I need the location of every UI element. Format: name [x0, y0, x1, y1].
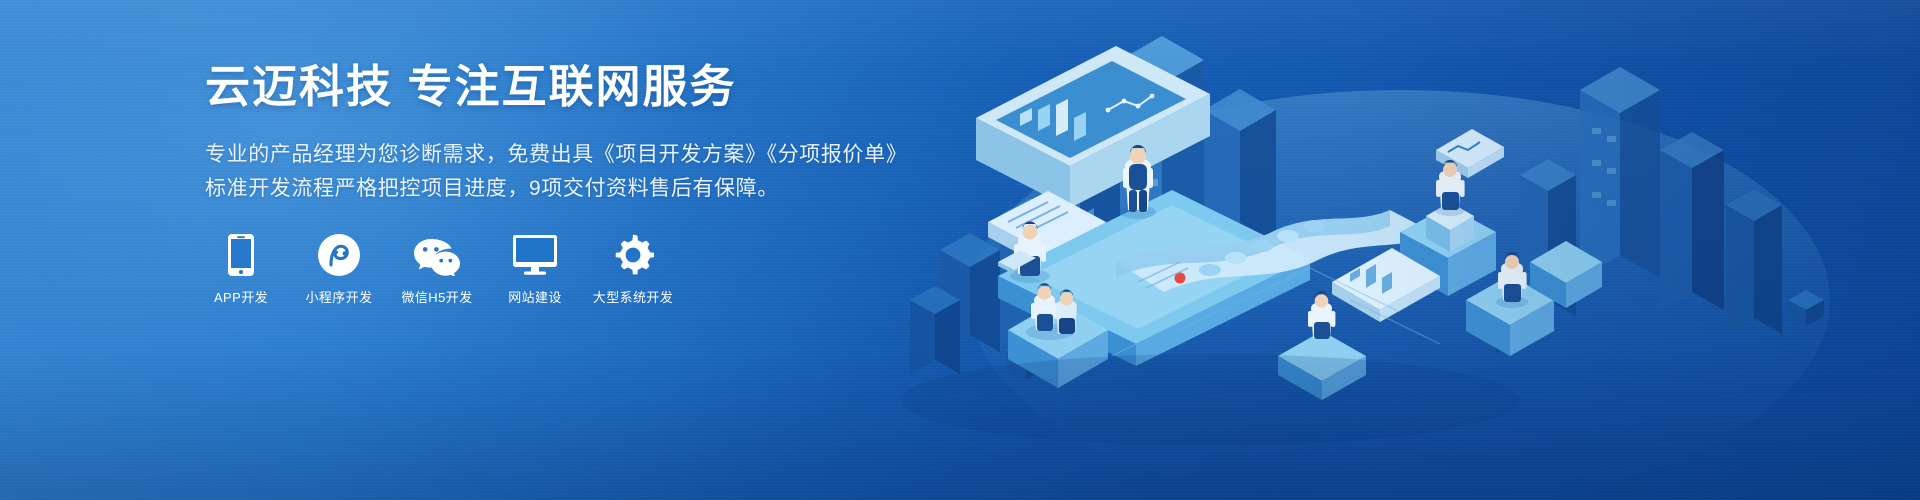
- service-label: 小程序开发: [305, 291, 372, 304]
- service-label: APP开发: [214, 291, 268, 304]
- banner-subtitle-line-2: 标准开发流程严格把控项目进度，9项交付资料售后有保障。: [205, 172, 905, 206]
- banner-copy: 云迈科技 专注互联网服务 专业的产品经理为您诊断需求，免费出具《项目开发方案》《…: [205, 62, 905, 206]
- service-label: 大型系统开发: [593, 291, 673, 304]
- mini-program-icon: [318, 232, 360, 278]
- banner-subtitle-line-1: 专业的产品经理为您诊断需求，免费出具《项目开发方案》《分项报价单》: [205, 138, 905, 172]
- gear-icon: [612, 232, 654, 278]
- service-label: 网站建设: [508, 291, 562, 304]
- service-item-website[interactable]: 网站建设: [499, 232, 571, 304]
- service-label: 微信H5开发: [401, 291, 472, 304]
- service-item-wechat-h5[interactable]: 微信H5开发: [401, 232, 473, 304]
- service-item-app[interactable]: APP开发: [205, 232, 277, 304]
- wechat-icon: [413, 232, 461, 278]
- service-item-miniprogram[interactable]: 小程序开发: [303, 232, 375, 304]
- service-item-large-system[interactable]: 大型系统开发: [597, 232, 669, 304]
- mobile-phone-icon: [228, 232, 254, 278]
- monitor-icon: [513, 232, 557, 278]
- page-title: 云迈科技 专注互联网服务: [205, 62, 905, 112]
- hero-banner: 云迈科技 专注互联网服务 专业的产品经理为您诊断需求，免费出具《项目开发方案》《…: [0, 0, 1920, 500]
- isometric-tech-city-illustration: [880, 0, 1920, 500]
- service-list: APP开发 小程序开发: [205, 232, 669, 304]
